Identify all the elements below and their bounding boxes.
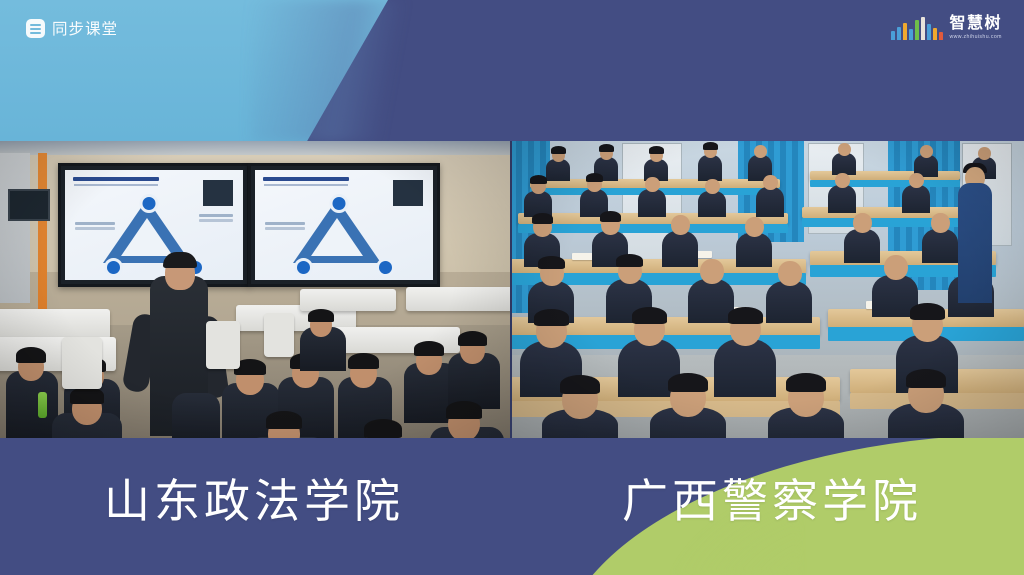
student-head (931, 213, 950, 233)
student-head (745, 217, 764, 237)
student-head (909, 173, 924, 188)
slide-title-bar (263, 177, 349, 181)
wall-plaque (8, 189, 50, 221)
student-figure (832, 153, 856, 175)
student-figure (172, 393, 220, 438)
presentation-slide: 同步课堂 智慧树 www.zhihuishu.com (0, 0, 1024, 575)
classroom-desk (0, 309, 110, 339)
student-figure (546, 159, 570, 181)
logo-bar-3 (909, 29, 913, 40)
background-green-fill (1000, 434, 1024, 575)
slide-content-left (65, 170, 243, 280)
video-pane-left[interactable] (0, 141, 510, 438)
student-hair (308, 309, 334, 322)
logo-bar-4 (915, 20, 919, 40)
student-hair (551, 146, 566, 154)
student-head (705, 179, 720, 194)
student-hair (266, 411, 302, 429)
student-hair (728, 307, 763, 324)
logo-bar-6 (927, 24, 931, 40)
classroom-chair (206, 321, 240, 369)
student-figure (828, 185, 856, 213)
student-head (778, 261, 802, 286)
student-hair (446, 401, 482, 419)
student-head (754, 145, 767, 158)
student-figure (902, 185, 930, 213)
student-hair (616, 254, 643, 267)
slide-content-right (255, 170, 433, 280)
student-head (700, 259, 724, 284)
student-hair (600, 211, 621, 222)
logo-bar-0 (891, 31, 895, 40)
student-hair (534, 309, 569, 326)
slide-qr-code (393, 180, 423, 206)
officer-uniform-figure (958, 183, 992, 303)
student-head (978, 147, 991, 160)
slide-node-top (329, 194, 348, 213)
student-hair (560, 375, 600, 394)
student-figure (698, 191, 726, 217)
student-figure (844, 229, 880, 263)
video-pane-right[interactable] (510, 141, 1024, 438)
open-notebook (572, 253, 594, 260)
student-hair (632, 307, 667, 324)
logo-bar-7 (933, 28, 937, 40)
slide-title-bar (73, 177, 159, 181)
slide-text-block (199, 214, 233, 217)
projection-screen-left (58, 163, 250, 287)
slide-triangle-inner (121, 218, 173, 256)
wall-panel (0, 153, 30, 303)
student-head (645, 177, 660, 192)
classroom-ceiling (0, 141, 510, 155)
student-hair (599, 144, 614, 152)
student-head (920, 145, 933, 158)
student-figure (638, 189, 666, 217)
student-figure (698, 155, 722, 181)
student-hair (458, 331, 487, 346)
bar-chart-logo-icon (891, 17, 943, 40)
slide-triangle-inner (311, 218, 363, 256)
sync-classroom-label: 同步课堂 (52, 17, 118, 39)
student-hair (348, 353, 379, 369)
logo-bar-5 (921, 17, 925, 40)
student-hair (538, 256, 565, 269)
zhihuishu-url: www.zhihuishu.com (949, 35, 1001, 40)
student-figure (736, 233, 772, 267)
student-head (838, 143, 851, 156)
caption-right-school: 广西警察学院 (622, 478, 922, 524)
logo-bar-8 (939, 32, 943, 40)
student-hair (532, 213, 553, 224)
presenter-hair (163, 252, 197, 268)
caption-left-school: 山东政法学院 (104, 478, 404, 524)
student-hair (16, 347, 46, 363)
student-figure (922, 229, 958, 263)
student-figure (766, 281, 812, 323)
student-hair (786, 373, 826, 392)
zhihuishu-brand: 智慧树 www.zhihuishu.com (891, 16, 1002, 40)
student-hair (703, 142, 718, 150)
student-hair (414, 341, 444, 356)
classroom-chair (62, 337, 102, 389)
sync-classroom-brand: 同步课堂 (26, 17, 118, 39)
student-hair (70, 387, 104, 404)
student-hair (586, 173, 603, 182)
student-hair (906, 369, 946, 388)
student-head (763, 175, 778, 190)
video-grid (0, 141, 1024, 438)
classroom-desk (406, 287, 510, 311)
sync-classroom-icon (26, 19, 45, 38)
student-hair (668, 373, 708, 392)
student-figure (714, 339, 776, 397)
zhihuishu-name: 智慧树 (949, 16, 1002, 32)
slide-node-left (104, 258, 123, 277)
student-figure (6, 371, 58, 438)
projection-screen-right (248, 163, 440, 287)
student-figure (662, 231, 698, 267)
logo-bar-2 (903, 23, 907, 40)
student-hair (649, 146, 664, 154)
student-hair (910, 303, 945, 320)
student-head (884, 255, 908, 280)
student-head (671, 215, 690, 235)
student-figure (756, 187, 784, 217)
slide-node-left (294, 258, 313, 277)
student-hair (364, 419, 402, 438)
zhihuishu-wordmark: 智慧树 www.zhihuishu.com (949, 16, 1002, 40)
slide-node-right (376, 258, 395, 277)
desk-front-panel (802, 218, 982, 227)
student-hair (530, 175, 547, 184)
classroom-chair (264, 313, 294, 357)
slide-qr-code (203, 180, 233, 206)
logo-bar-1 (897, 27, 901, 40)
student-head (835, 173, 850, 188)
classroom-desk (300, 289, 396, 311)
water-bottle (38, 392, 47, 418)
video-pane-divider (510, 141, 512, 438)
student-head (853, 213, 872, 233)
slide-node-top (139, 194, 158, 213)
